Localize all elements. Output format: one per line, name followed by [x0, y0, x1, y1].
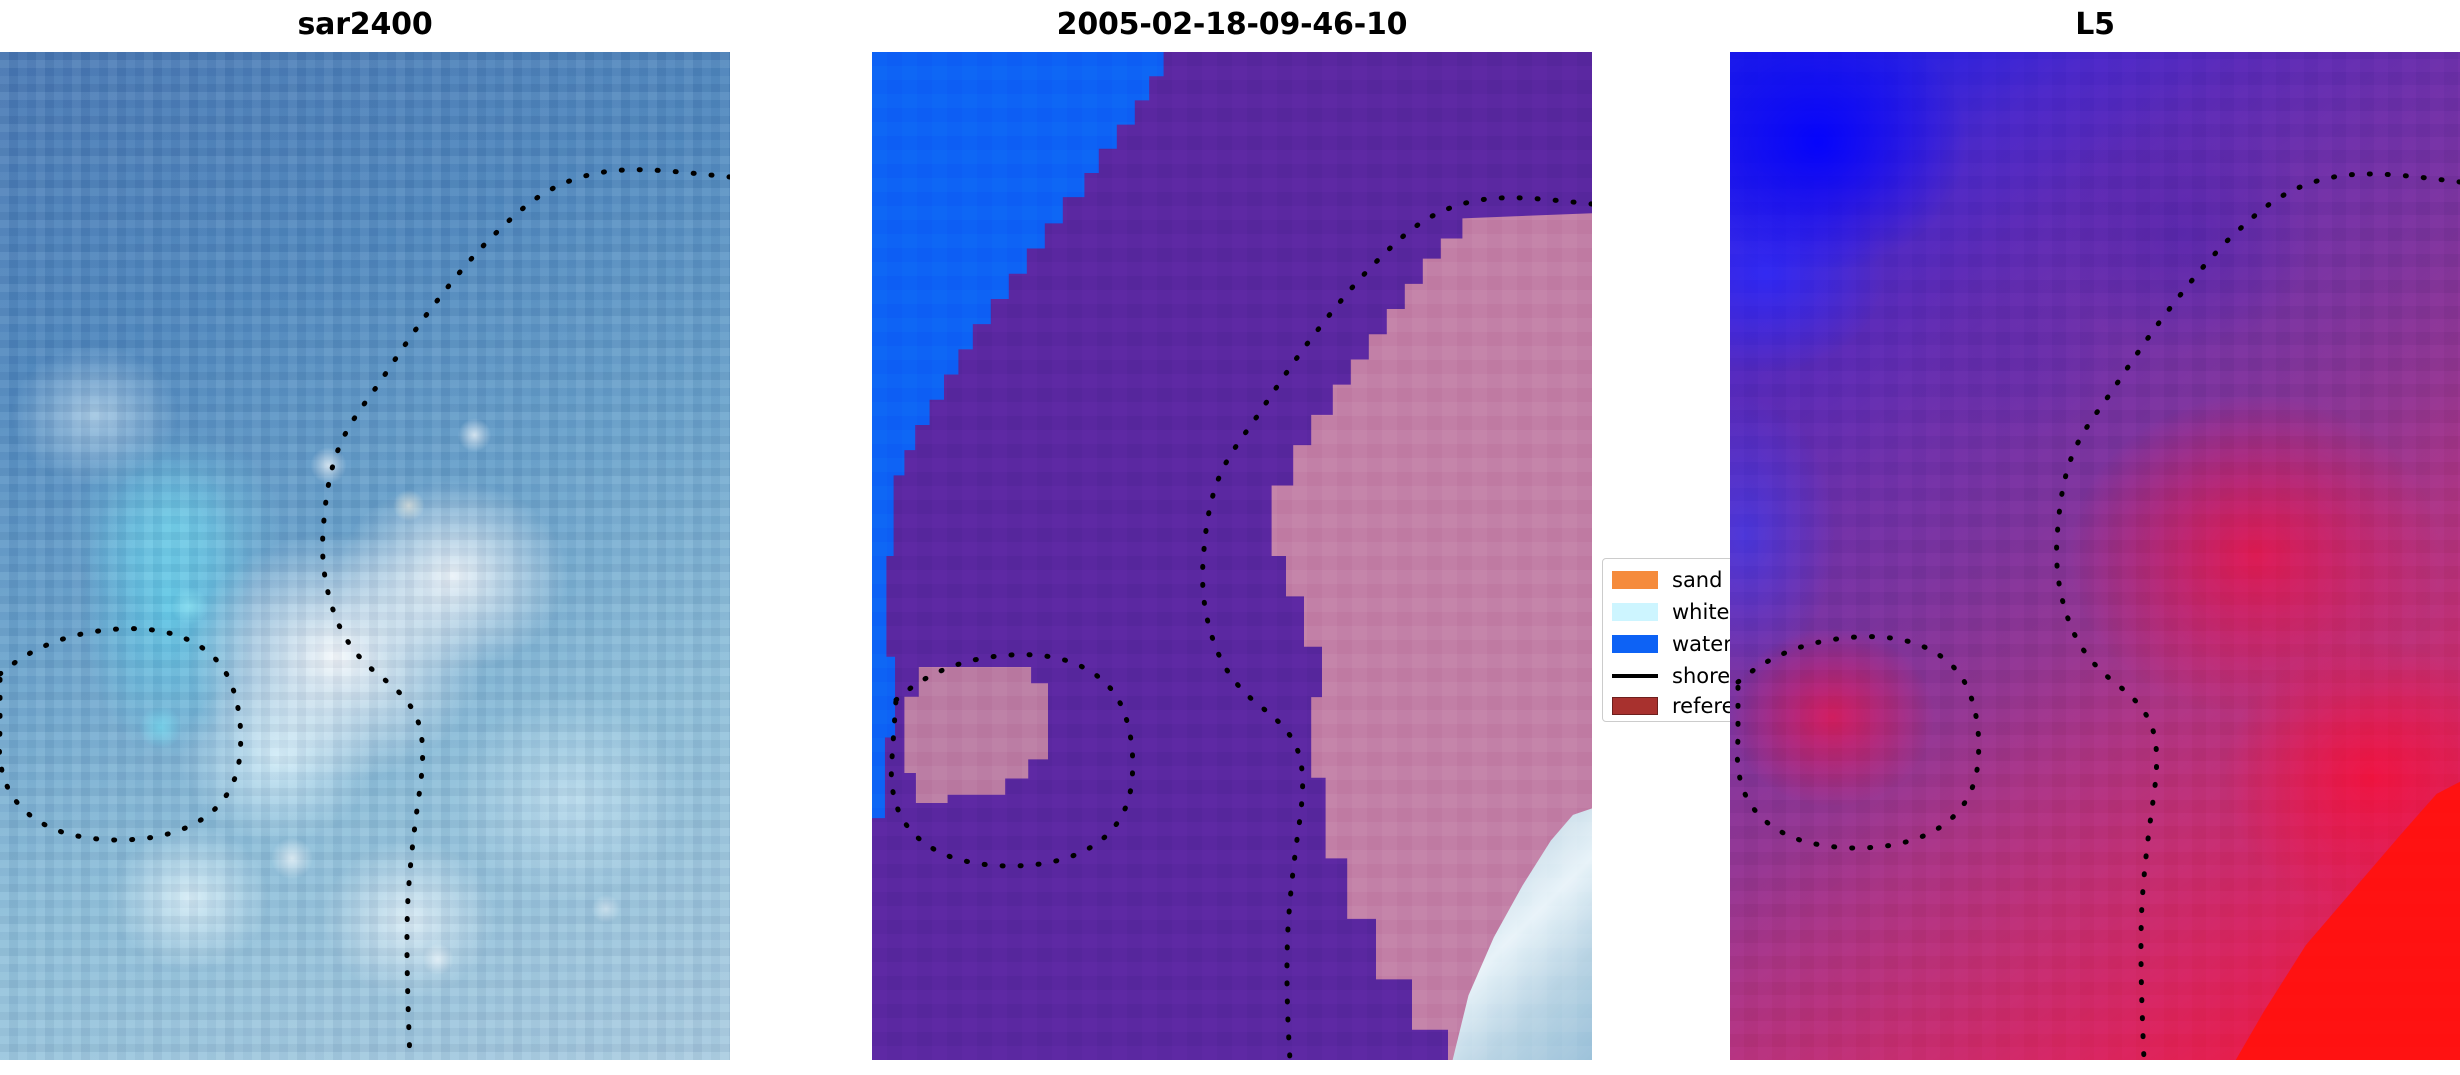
legend-item-sand[interactable]: sand: [1612, 565, 1722, 595]
legend-label-sand: sand: [1672, 568, 1722, 592]
figure-canvas: sar2400 2005-02-18-09-46-10 L5: [0, 0, 2460, 1075]
panel-title-timestamp: 2005-02-18-09-46-10: [872, 7, 1592, 42]
panel-l5-index-image: [1730, 52, 2460, 1060]
legend-label-whitewater: whitew: [1672, 600, 1730, 624]
legend-box: sand whitew water shoreli referen: [1602, 558, 1730, 722]
legend-item-shoreline[interactable]: shoreli: [1612, 661, 1730, 691]
whitewater-swatch-icon: [1612, 603, 1658, 621]
legend-item-whitewater[interactable]: whitew: [1612, 597, 1730, 627]
legend-label-shoreline: shoreli: [1672, 664, 1730, 688]
shoreline-line-icon: [1612, 674, 1658, 678]
panel-title-sar2400: sar2400: [0, 7, 730, 42]
sand-swatch-icon: [1612, 571, 1658, 589]
legend-item-water[interactable]: water: [1612, 629, 1730, 659]
index-pixel-texture: [1730, 52, 2460, 1060]
panel-title-l5: L5: [1730, 7, 2460, 42]
legend: sand whitew water shoreli referen: [1600, 556, 1730, 726]
sar-whitewater-blobs: [0, 52, 730, 1060]
reference-swatch-icon: [1612, 697, 1658, 715]
water-swatch-icon: [1612, 635, 1658, 653]
legend-item-reference[interactable]: referen: [1612, 691, 1730, 721]
panel-classified-image: [872, 52, 1592, 1060]
legend-label-water: water: [1672, 632, 1730, 656]
panel-sar2400-image: [0, 52, 730, 1060]
classified-pixel-texture: [872, 52, 1592, 1060]
legend-label-reference: referen: [1672, 694, 1730, 718]
